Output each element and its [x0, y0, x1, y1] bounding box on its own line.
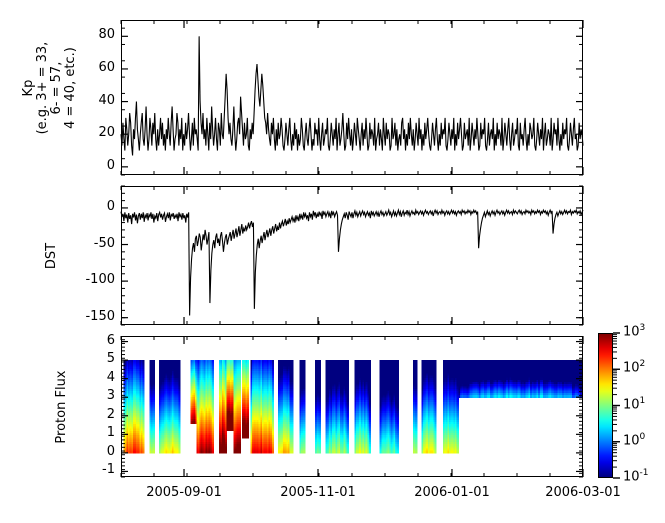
- colorbar-tick-label-4: 103: [623, 323, 645, 339]
- colorbar-tick-mantissa-0: 10: [623, 469, 640, 484]
- colorbar-tick-mantissa-2: 10: [623, 397, 640, 412]
- colorbar-tick-label-3: 102: [623, 359, 645, 375]
- colorbar-tick-mantissa-1: 10: [623, 433, 640, 448]
- colorbar-tick-exponent-2: 1: [640, 396, 646, 406]
- colorbar-tick-label-0: 10-1: [623, 468, 649, 484]
- figure-root: Kp(e.g. 3+ = 33,6- = 57,4 = 40, etc.) 02…: [0, 0, 665, 523]
- colorbar-tick-exponent-4: 3: [640, 323, 646, 333]
- colorbar-tick-exponent-3: 2: [640, 359, 646, 369]
- colorbar-tick-exponent-0: -1: [640, 468, 649, 478]
- colorbar-tick-mantissa-4: 10: [623, 324, 640, 339]
- colorbar-tick-label-2: 101: [623, 396, 645, 412]
- colorbar-tick-label-1: 100: [623, 432, 645, 448]
- colorbar-tick-exponent-1: 0: [640, 432, 646, 442]
- colorbar-ticks-layer: [0, 0, 665, 523]
- colorbar-tick-mantissa-3: 10: [623, 361, 640, 376]
